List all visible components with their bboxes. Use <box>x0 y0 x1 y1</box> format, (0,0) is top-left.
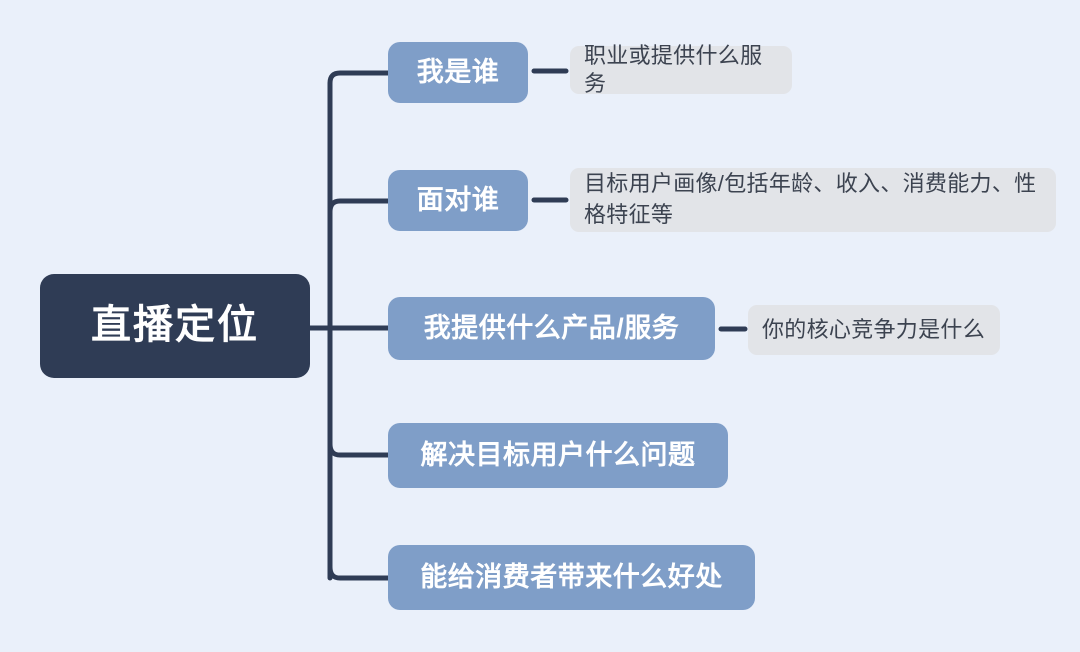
branch-node-3[interactable]: 我提供什么产品/服务 <box>388 297 715 360</box>
connector-branch-5 <box>330 567 388 578</box>
mindmap-canvas: 直播定位 我是谁 职业或提供什么服务 面对谁 目标用户画像/包括年龄、收入、消费… <box>0 0 1080 652</box>
branch-node-5[interactable]: 能给消费者带来什么好处 <box>388 545 755 610</box>
leaf-node-2[interactable]: 目标用户画像/包括年龄、收入、消费能力、性格特征等 <box>570 168 1056 232</box>
connector-branch-4 <box>330 444 388 455</box>
connector-branch-1 <box>330 73 388 95</box>
root-node[interactable]: 直播定位 <box>40 274 310 378</box>
branch-node-1[interactable]: 我是谁 <box>388 42 528 103</box>
leaf-node-1[interactable]: 职业或提供什么服务 <box>570 46 792 94</box>
connector-branch-2 <box>330 201 388 212</box>
branch-node-4[interactable]: 解决目标用户什么问题 <box>388 423 728 488</box>
branch-node-2[interactable]: 面对谁 <box>388 170 528 231</box>
leaf-node-3[interactable]: 你的核心竞争力是什么 <box>748 305 1000 355</box>
